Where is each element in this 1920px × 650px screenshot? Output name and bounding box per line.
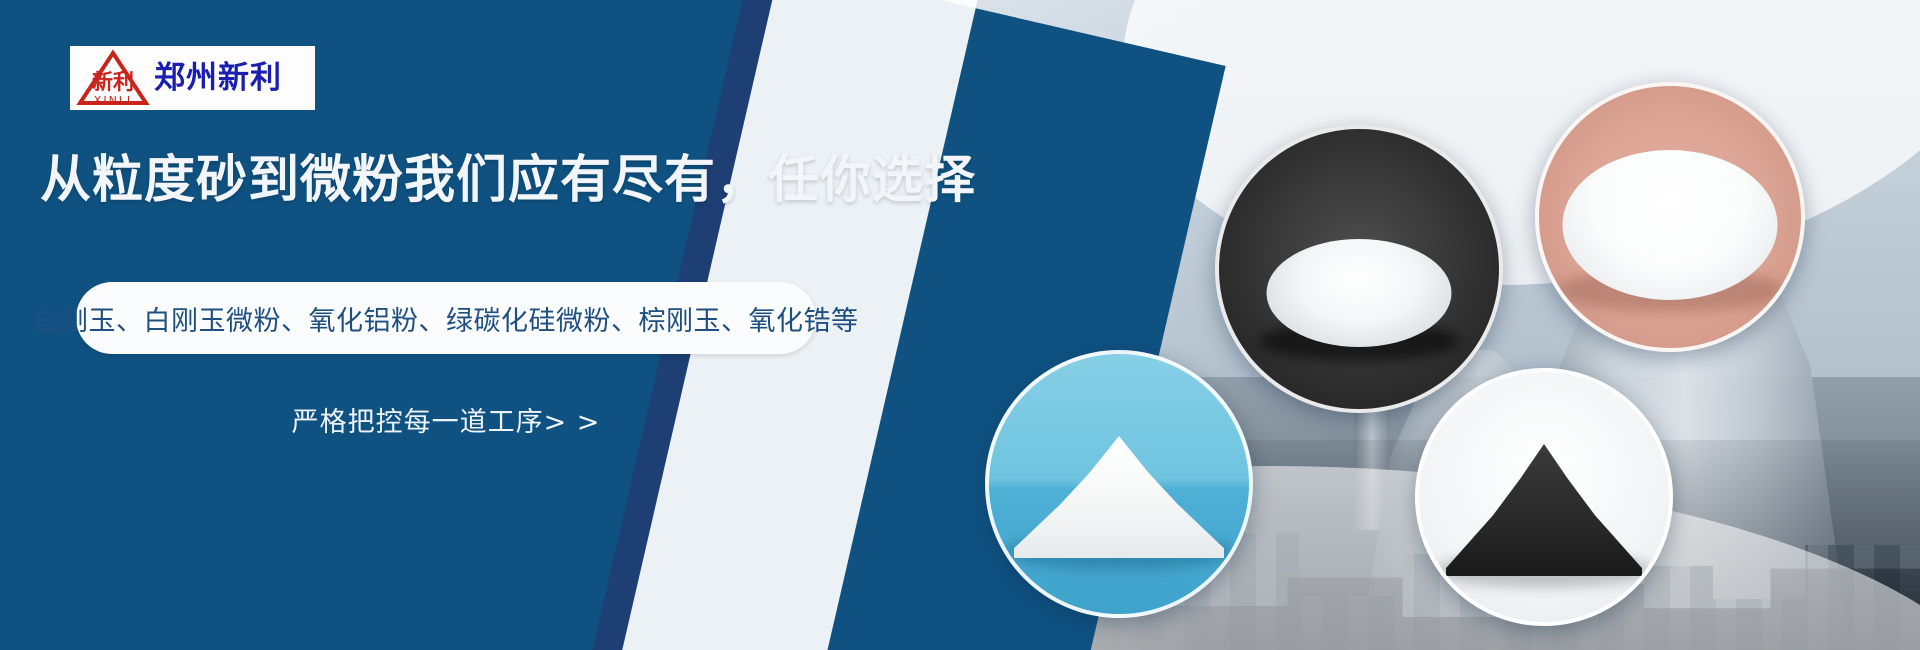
grit-cone bbox=[1446, 444, 1642, 576]
product-photo-white-cone-on-blue bbox=[985, 350, 1253, 618]
product-photo-black-grit-on-white bbox=[1415, 368, 1673, 626]
xinli-triangle-icon: 新利 XINLI bbox=[76, 49, 150, 107]
logo-wordmark: 郑州新利 bbox=[154, 63, 282, 94]
products-pill-text: 白刚玉、白刚玉微粉、氧化铝粉、绿碳化硅微粉、棕刚玉、氧化锆等 bbox=[34, 299, 859, 338]
company-logo[interactable]: 新利 XINLI 郑州新利 bbox=[70, 46, 315, 110]
cta-link[interactable]: 严格把控每一道工序> > bbox=[76, 400, 816, 439]
promo-banner: 新利 XINLI 郑州新利 从粒度砂到微粉我们应有尽有，任你选择 白刚玉、白刚玉… bbox=[0, 0, 1920, 650]
powder-pile bbox=[1563, 150, 1778, 300]
headline: 从粒度砂到微粉我们应有尽有，任你选择 bbox=[40, 150, 976, 211]
powder-cone bbox=[1014, 436, 1224, 558]
products-pill: 白刚玉、白刚玉微粉、氧化铝粉、绿碳化硅微粉、棕刚玉、氧化锆等 bbox=[76, 282, 816, 354]
powder-pile bbox=[1267, 239, 1452, 347]
svg-text:新利: 新利 bbox=[92, 70, 134, 94]
svg-text:XINLI: XINLI bbox=[94, 94, 132, 107]
product-photo-white-powder-on-pink bbox=[1535, 82, 1805, 352]
product-photo-white-grit-on-dark bbox=[1215, 125, 1503, 413]
